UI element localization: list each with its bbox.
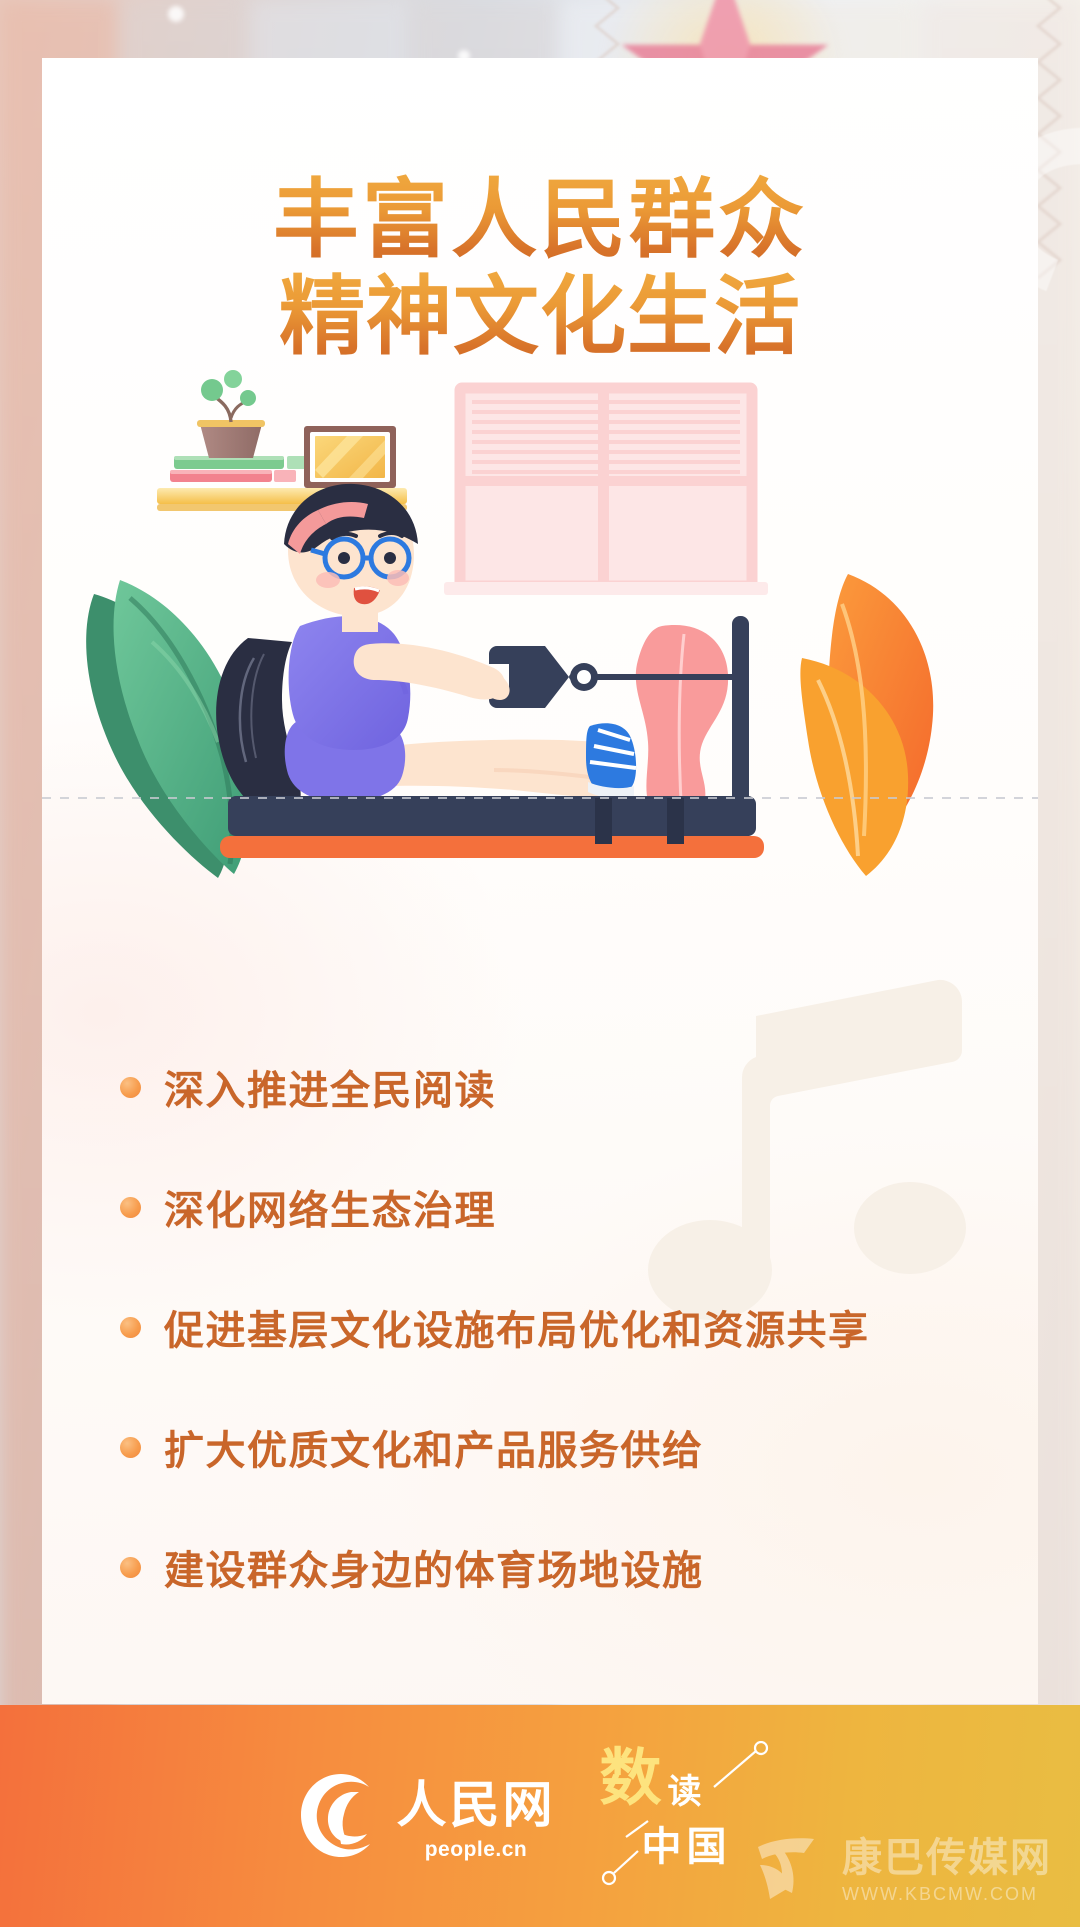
list-item: 建设群众身边的体育场地设施 — [120, 1538, 980, 1596]
bullet-dot-icon — [120, 1437, 141, 1458]
people-cn-brand-en: people.cn — [425, 1838, 528, 1862]
orange-leaf — [800, 574, 933, 876]
confetti-dot — [168, 6, 184, 22]
blue-sneaker — [586, 723, 636, 798]
rowing-machine-rail — [220, 796, 764, 858]
bullet-dot-icon — [120, 1317, 141, 1338]
watermark-url: WWW.KBCMW.COM — [842, 1884, 1038, 1905]
bullet-dot-icon — [120, 1077, 141, 1098]
shudu-shu: 数 — [600, 1747, 662, 1809]
list-item-label: 深化网络生态治理 — [164, 1178, 496, 1236]
people-cn-brand-cn: 人民网 — [397, 1780, 556, 1830]
list-item: 深化网络生态治理 — [120, 1178, 980, 1236]
people-cn-logo: 人民网 people.cn — [295, 1770, 556, 1862]
illustration — [42, 358, 1038, 918]
window-group — [444, 388, 768, 595]
list-item-label: 深入推进全民阅读 — [164, 1058, 496, 1116]
list-item: 深入推进全民阅读 — [120, 1058, 980, 1116]
title-line-2: 精神文化生活 — [42, 267, 1038, 368]
bullet-dot-icon — [120, 1197, 141, 1218]
watermark-name: 康巴传媒网 — [842, 1836, 1052, 1880]
list-item-label: 促进基层文化设施布局优化和资源共享 — [164, 1298, 870, 1356]
footer-bar: 人民网 people.cn 数 读 中国 康巴传媒网 WWW.KBCMW — [0, 1705, 1080, 1927]
shudu-zhongguo: 中国 — [642, 1827, 732, 1867]
illustration-svg — [42, 358, 1038, 918]
people-globe-icon — [295, 1770, 387, 1862]
list-item-label: 扩大优质文化和产品服务供给 — [164, 1418, 704, 1476]
source-watermark: 康巴传媒网 WWW.KBCMW.COM — [752, 1831, 1052, 1905]
kbcmw-logo-icon — [752, 1831, 830, 1905]
shudu-du: 读 — [668, 1775, 702, 1809]
page-title: 丰富人民群众 精神文化生活 — [42, 170, 1038, 369]
list-item: 促进基层文化设施布局优化和资源共享 — [120, 1298, 980, 1356]
list-item: 扩大优质文化和产品服务供给 — [120, 1418, 980, 1476]
title-line-1: 丰富人民群众 — [42, 170, 1038, 271]
list-item-label: 建设群众身边的体育场地设施 — [164, 1538, 704, 1596]
bullet-dot-icon — [120, 1557, 141, 1578]
bullet-list: 深入推进全民阅读 深化网络生态治理 促进基层文化设施布局优化和资源共享 扩大优质… — [120, 1058, 980, 1658]
poster-card: 丰富人民群众 精神文化生活 — [42, 58, 1038, 1704]
